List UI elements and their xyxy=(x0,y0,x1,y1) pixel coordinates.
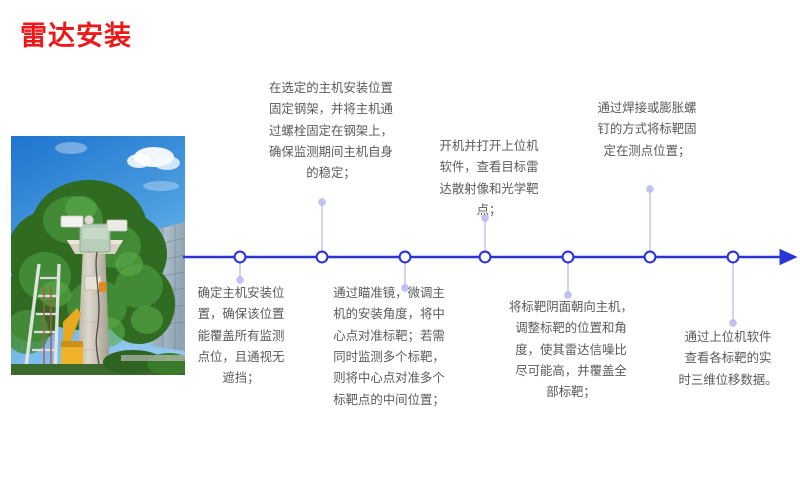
timeline-node-3[interactable] xyxy=(396,248,414,266)
step-text-3: 通过瞄准镜，微调主 机的安装角度，将中 心点对准标靶；若需 同时监测多个标靶， … xyxy=(318,283,460,411)
timeline-node-6[interactable] xyxy=(641,248,659,266)
slide-canvas: 雷达安装 xyxy=(0,0,800,480)
timeline-node-2[interactable] xyxy=(313,248,331,266)
page-title: 雷达安装 xyxy=(20,22,132,52)
timeline-node-7[interactable] xyxy=(724,248,742,266)
timeline-node-4[interactable] xyxy=(476,248,494,266)
photo-illustration xyxy=(11,136,185,375)
step-text-7: 通过上位机软件 查看各标靶的实 时三维位移数据。 xyxy=(665,327,791,391)
step-text-1: 确定主机安装位 置，确保该位置 能覆盖所有监测 点位，且通视无 遮挡； xyxy=(180,283,302,390)
step-text-6: 通过焊接或膨胀螺 钉的方式将标靶固 定在测点位置； xyxy=(578,98,716,162)
timeline-node-5[interactable] xyxy=(559,248,577,266)
step-text-5: 将标靶阴面朝向主机， 调整标靶的位置和角 度，使其雷达信噪比 尽可能高，并覆盖全… xyxy=(503,297,639,404)
timeline-node-1[interactable] xyxy=(231,248,249,266)
radar-installation-photo xyxy=(11,136,185,375)
step-text-2: 在选定的主机安装位置 固定钢架，并将主机通 过螺栓固定在钢架上， 确保监测期间主… xyxy=(255,78,407,185)
step-text-4: 开机并打开上位机 软件，查看目标雷 达散射像和光学靶 点； xyxy=(428,136,550,221)
